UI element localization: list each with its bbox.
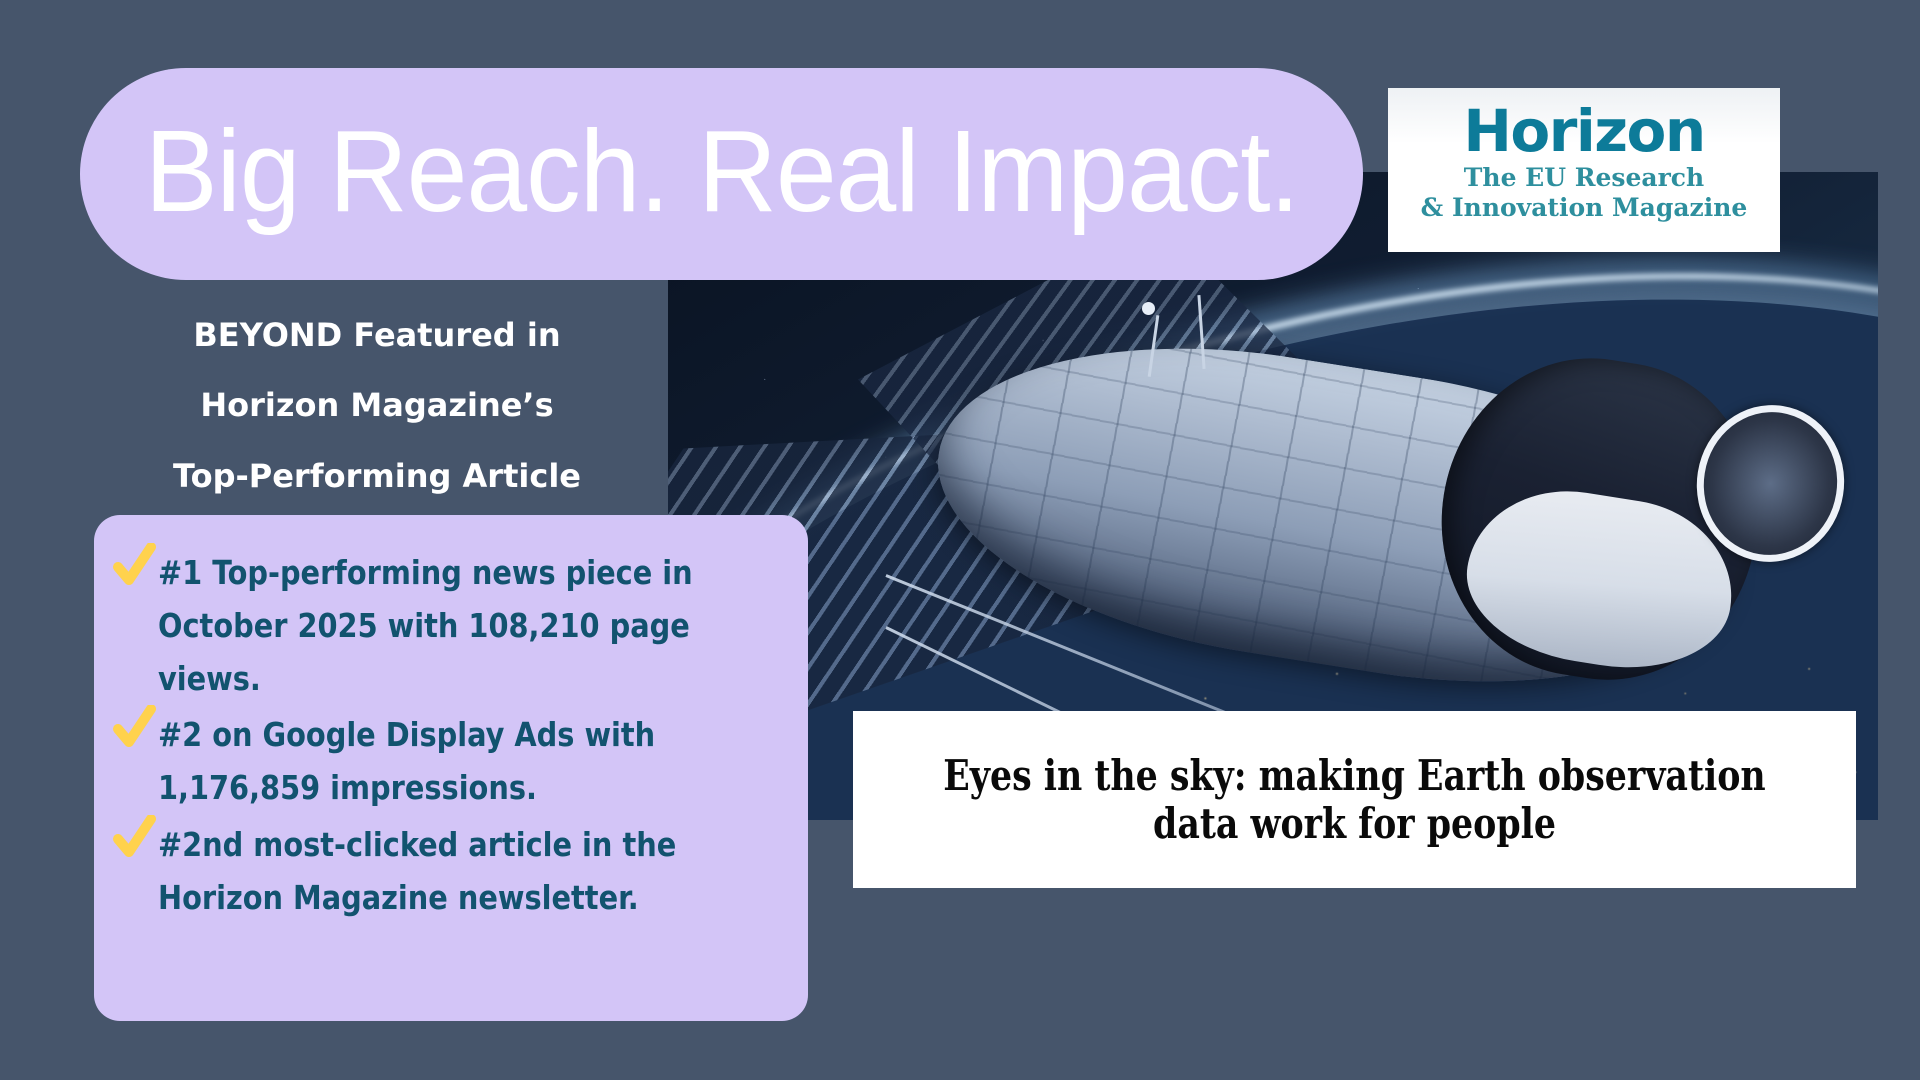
list-item: #2nd most-clicked article in the Horizon… xyxy=(116,819,782,925)
hero-headline: Big Reach. Real Impact. xyxy=(144,113,1298,235)
check-mark-icon xyxy=(112,543,158,603)
horizon-wordmark: Horizon xyxy=(1388,102,1780,161)
stats-card: #1 Top-performing news piece in October … xyxy=(94,515,808,1021)
hero-title-pill: Big Reach. Real Impact. xyxy=(80,68,1363,280)
sub-headline-line-1: BEYOND Featured in xyxy=(96,300,658,370)
list-item: #1 Top-performing news piece in October … xyxy=(116,547,782,705)
horizon-tagline: The EU Research & Innovation Magazine xyxy=(1388,163,1780,222)
sub-headline-line-2: Horizon Magazine’s xyxy=(96,370,658,440)
stat-text: #1 Top-performing news piece in October … xyxy=(158,547,763,705)
horizon-tagline-line-1: The EU Research xyxy=(1388,163,1780,193)
horizon-tagline-line-2: & Innovation Magazine xyxy=(1388,193,1780,223)
stat-text: #2 on Google Display Ads with 1,176,859 … xyxy=(158,709,763,815)
horizon-magazine-logo: Horizon The EU Research & Innovation Mag… xyxy=(1388,88,1780,252)
article-headline: Eyes in the sky: making Earth observatio… xyxy=(930,752,1779,848)
sub-headline-line-3: Top-Performing Article xyxy=(96,441,658,511)
check-mark-icon xyxy=(112,705,158,765)
check-mark-icon xyxy=(112,815,158,875)
poster-canvas: Big Reach. Real Impact. Horizon The EU R… xyxy=(0,0,1920,1080)
sub-headline: BEYOND Featured in Horizon Magazine’s To… xyxy=(96,300,658,511)
stat-text: #2nd most-clicked article in the Horizon… xyxy=(158,819,763,925)
list-item: #2 on Google Display Ads with 1,176,859 … xyxy=(116,709,782,815)
article-headline-box: Eyes in the sky: making Earth observatio… xyxy=(853,711,1856,888)
